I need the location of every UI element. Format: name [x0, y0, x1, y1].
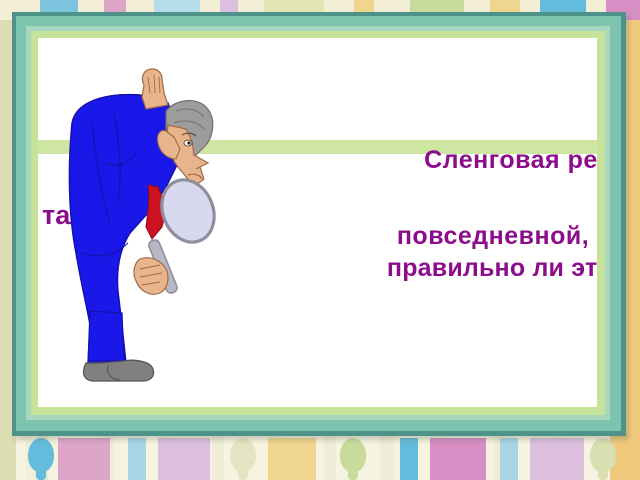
background-stripe	[530, 438, 584, 480]
spoon-stem	[238, 464, 248, 480]
slide-title-text: Сленговая речь повседневной, но правильн…	[68, 144, 597, 284]
slide-text-line-3: правильно ли это?	[68, 252, 597, 284]
spoon-stem	[348, 464, 358, 480]
shoes	[84, 360, 154, 381]
picture-frame-outer: тала	[12, 12, 626, 436]
spoon-decoration-icon	[590, 438, 616, 480]
background-stripe	[500, 438, 518, 480]
picture-frame-inner: тала	[26, 26, 610, 420]
picture-frame-mid: тала	[16, 16, 621, 431]
spoon-stem	[598, 464, 608, 480]
background-stripe	[268, 438, 316, 480]
background-stripe	[128, 438, 146, 480]
background-stripe	[58, 438, 110, 480]
spoon-decoration-icon	[28, 438, 54, 480]
slide-canvas: тала	[0, 0, 640, 480]
slide-text-line-1: Сленговая речь	[68, 144, 597, 176]
background-stripe	[400, 438, 418, 480]
spoon-decoration-icon	[340, 438, 366, 480]
picture-frame-accent: тала	[31, 31, 605, 415]
background-stripe	[430, 438, 486, 480]
spoon-decoration-icon	[230, 438, 256, 480]
raised-hand	[142, 69, 168, 109]
slide-text-line-2: повседневной, но	[68, 220, 597, 252]
slide-content-area: тала	[38, 38, 597, 407]
background-stripe	[158, 438, 210, 480]
spoon-stem	[36, 464, 46, 480]
